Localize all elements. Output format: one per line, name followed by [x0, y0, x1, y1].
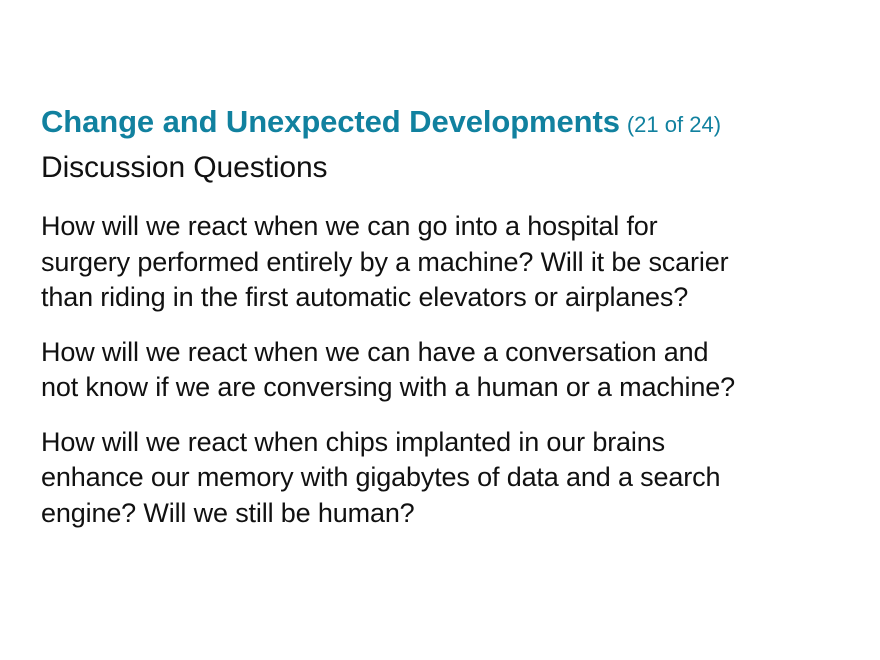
- text-line: than riding in the first automatic eleva…: [41, 280, 831, 316]
- discussion-question-3: How will we react when chips implanted i…: [41, 425, 831, 532]
- text-line: How will we react when we can go into a …: [41, 209, 831, 245]
- slide-title: Change and Unexpected Developments(21 of…: [41, 105, 851, 137]
- text-line: not know if we are conversing with a hum…: [41, 370, 831, 406]
- discussion-question-2: How will we react when we can have a con…: [41, 335, 831, 406]
- discussion-question-1: How will we react when we can go into a …: [41, 209, 831, 316]
- slide-title-text: Change and Unexpected Developments: [41, 104, 620, 139]
- slide-subtitle: Discussion Questions: [41, 152, 327, 184]
- presentation-slide: Change and Unexpected Developments(21 of…: [0, 0, 880, 660]
- text-line: engine? Will we still be human?: [41, 496, 831, 532]
- slide-body: How will we react when we can go into a …: [41, 209, 831, 531]
- text-line: How will we react when chips implanted i…: [41, 425, 831, 461]
- text-line: enhance our memory with gigabytes of dat…: [41, 460, 831, 496]
- text-line: How will we react when we can have a con…: [41, 335, 831, 371]
- slide-counter: (21 of 24): [627, 112, 721, 137]
- text-line: surgery performed entirely by a machine?…: [41, 245, 831, 281]
